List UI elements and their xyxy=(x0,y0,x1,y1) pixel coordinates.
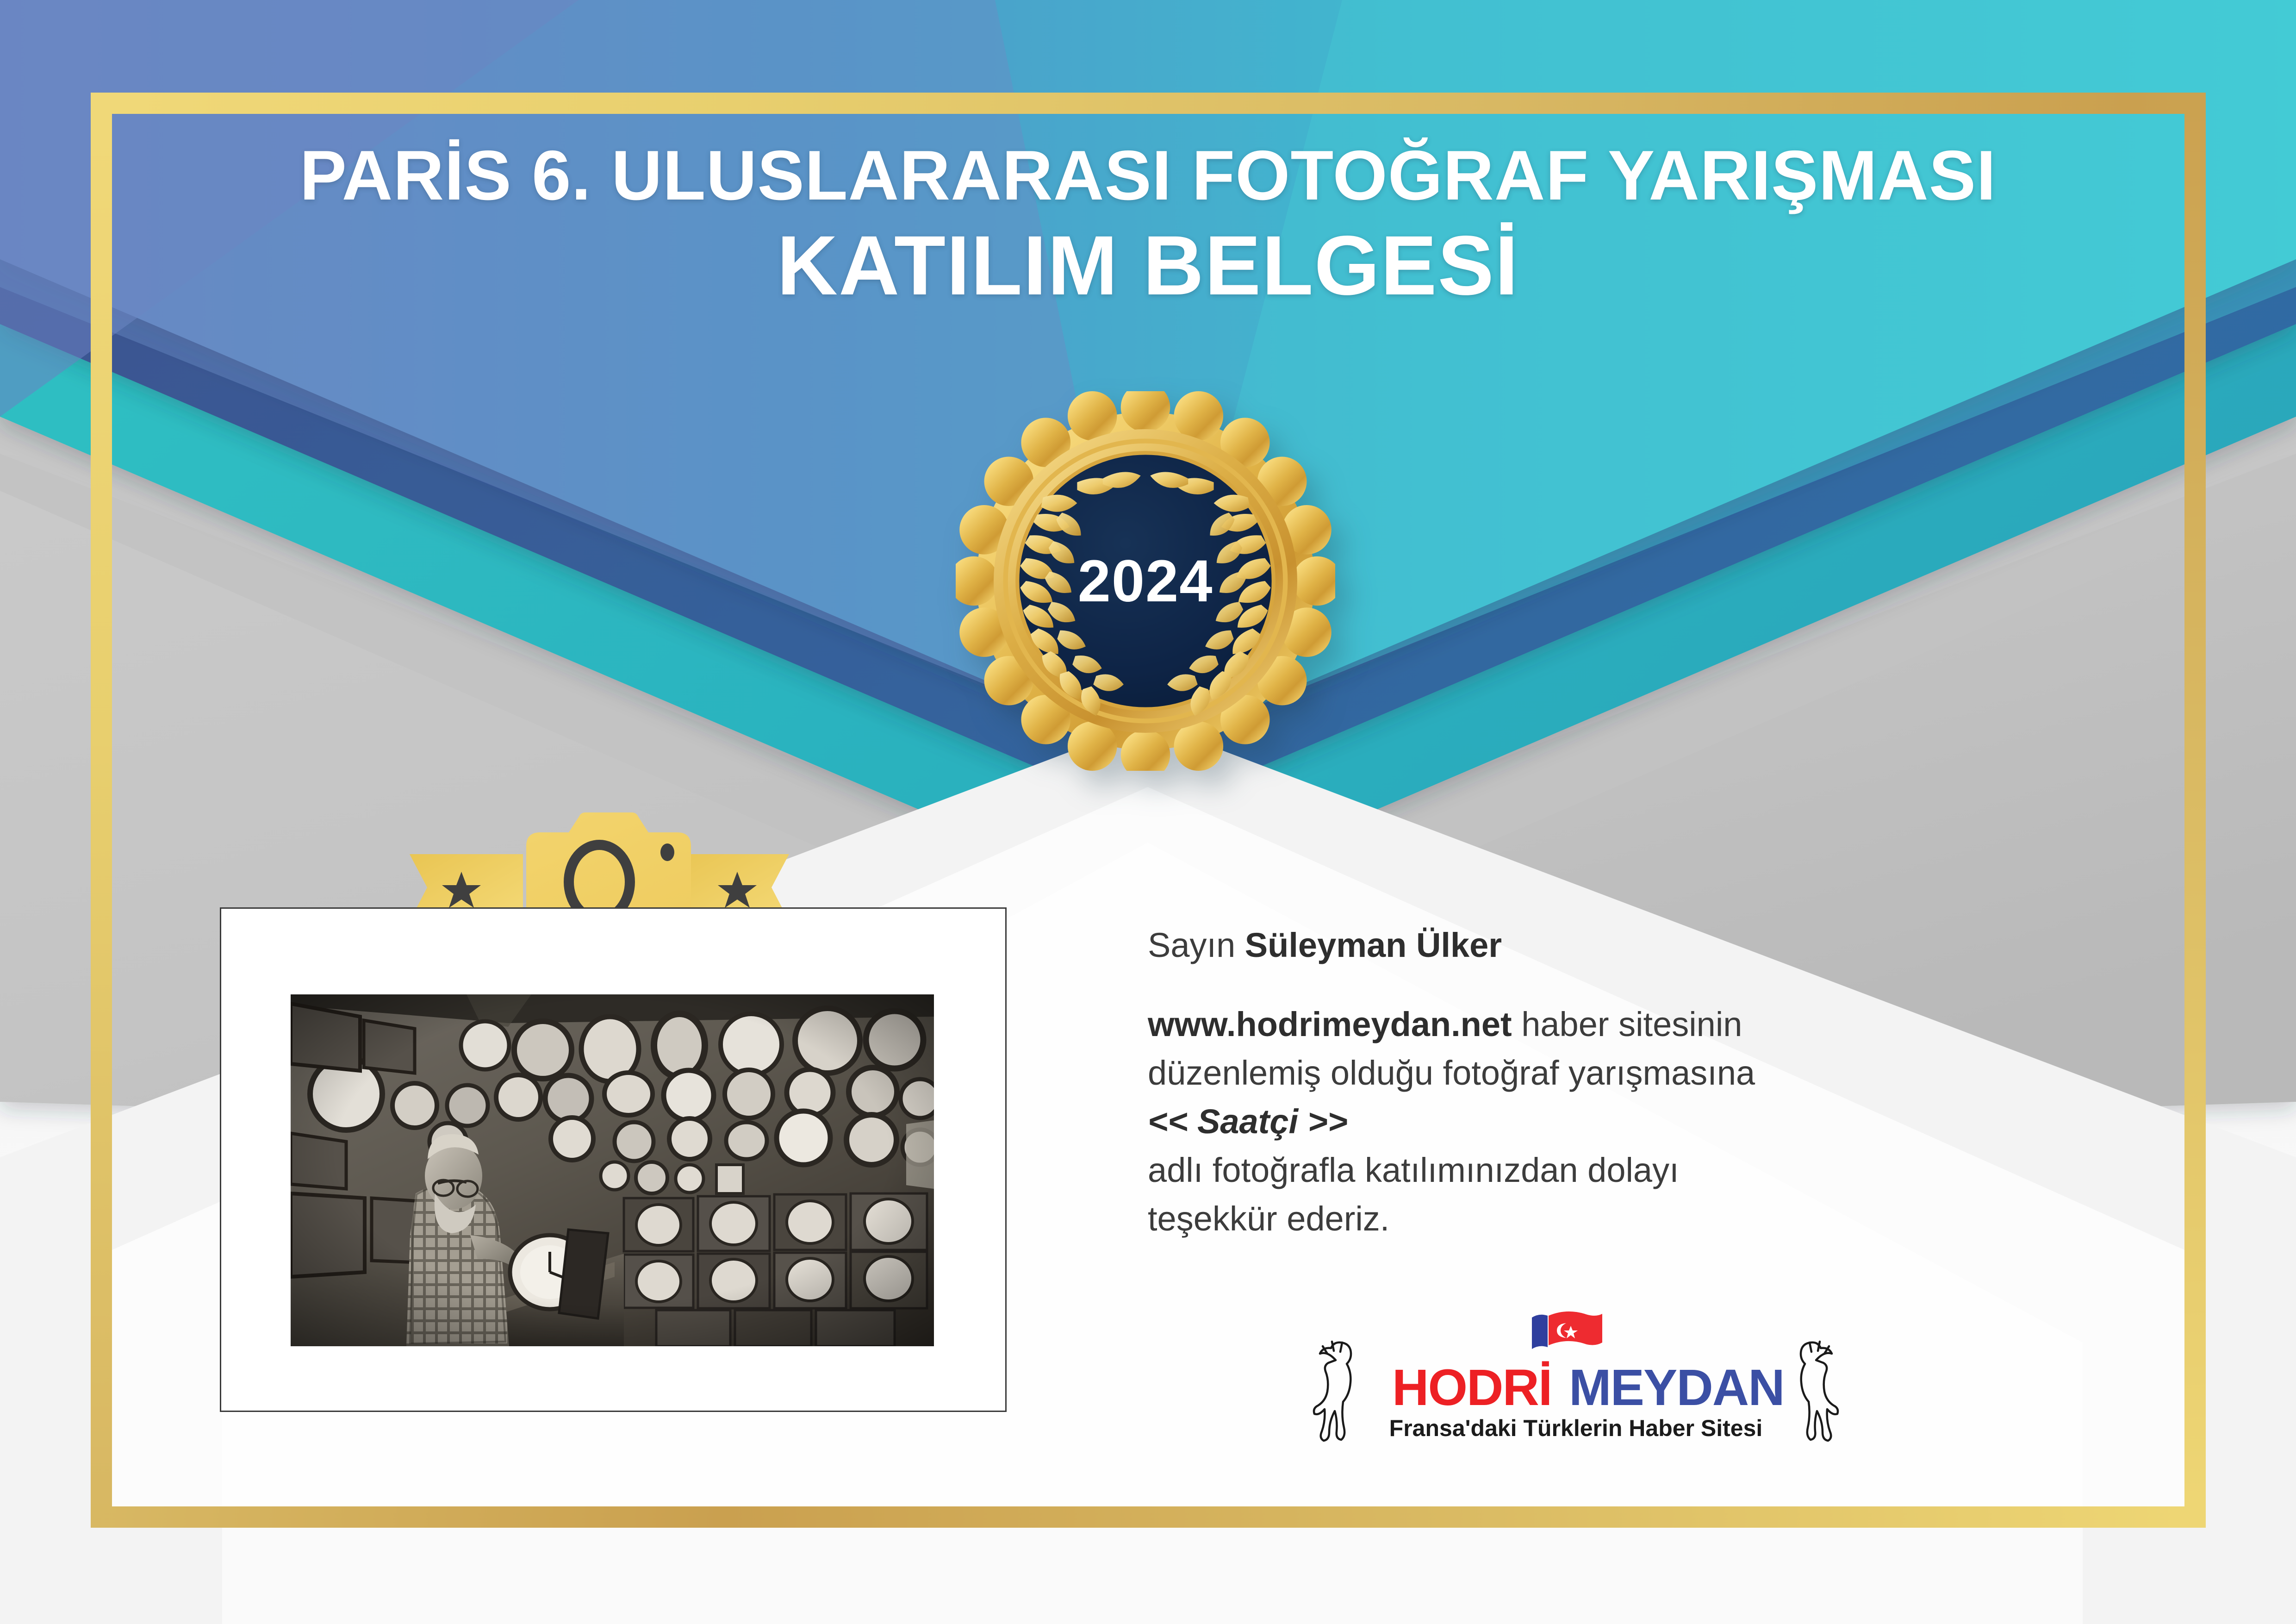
competition-photograph xyxy=(291,994,934,1346)
salutation-prefix: Sayın xyxy=(1148,926,1245,964)
submitted-photo-title: << Saatçi >> xyxy=(1148,1097,2120,1146)
logo-word-meydan: MEYDAN xyxy=(1569,1359,1784,1416)
french-flag-icon xyxy=(1532,1315,1548,1349)
rearing-horse-right-icon xyxy=(1801,1342,1838,1441)
award-seal: 2024 xyxy=(956,391,1335,771)
site-name-link[interactable]: www.hodrimeydan.net xyxy=(1148,1005,1512,1043)
certificate-title-block: PARİS 6. ULUSLARARASI FOTOĞRAF YARIŞMASI… xyxy=(0,139,2296,312)
body-line-1-suffix: haber sitesinin xyxy=(1512,1005,1742,1043)
body-paragraph-line-1: www.hodrimeydan.net haber sitesinin xyxy=(1148,1000,2120,1049)
body-paragraph-line-2: düzenlemiş olduğu fotoğraf yarışmasına xyxy=(1148,1049,2120,1097)
certificate-body: Sayın Süleyman Ülker www.hodrimeydan.net… xyxy=(1148,924,2120,1243)
logo-word-hodri: HODRİ xyxy=(1392,1359,1551,1416)
body-paragraph-line-4: teşekkür ederiz. xyxy=(1148,1194,2120,1243)
logo-tagline: Fransa'daki Türklerin Haber Sitesi xyxy=(1389,1415,1763,1441)
page-title-line-2: KATILIM BELGESİ xyxy=(0,219,2296,313)
rearing-horse-left-icon xyxy=(1314,1342,1351,1441)
camera-flash-icon xyxy=(660,843,674,861)
body-paragraph-line-3: adlı fotoğrafla katılımınızdan dolayı xyxy=(1148,1146,2120,1194)
hodri-meydan-logo[interactable]: HODRİ MEYDAN Fransa'daki Türklerin Haber… xyxy=(1291,1305,1860,1449)
page-title-line-1: PARİS 6. ULUSLARARASI FOTOĞRAF YARIŞMASI xyxy=(0,139,2296,213)
salutation-line: Sayın Süleyman Ülker xyxy=(1148,924,2120,968)
turkish-flag-icon xyxy=(1549,1312,1602,1345)
recipient-name: Süleyman Ülker xyxy=(1245,926,1502,964)
